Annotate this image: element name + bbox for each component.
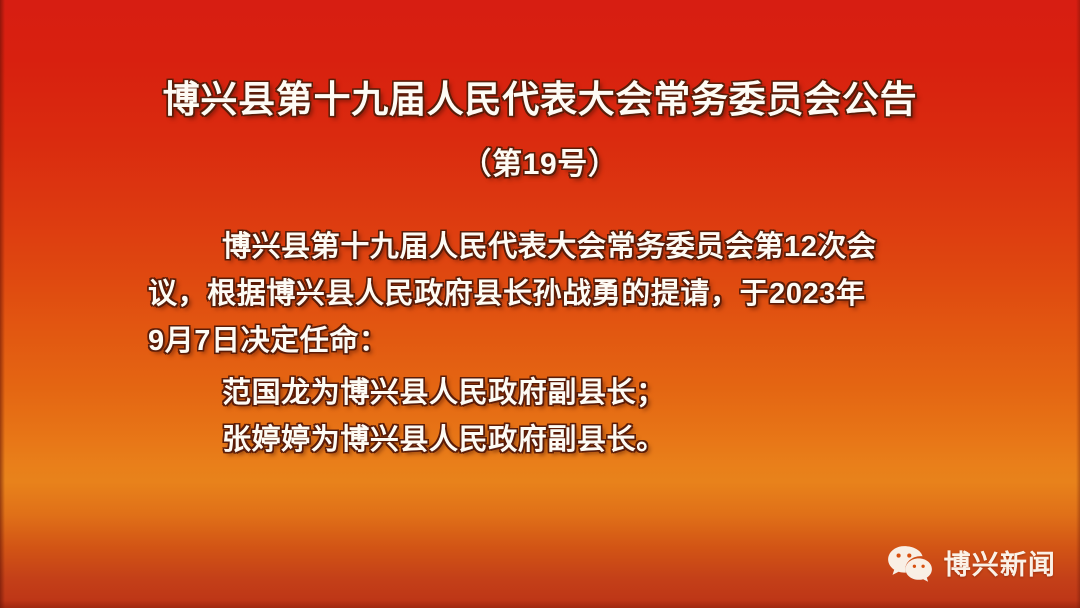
body-line-3: 9月7日决定任命： — [148, 318, 948, 365]
announcement-slide: 博兴县第十九届人民代表大会常务委员会公告 （第19号） 博兴县第十九届人民代表大… — [0, 0, 1080, 608]
appointment-item-2: 张婷婷为博兴县人民政府副县长。 — [222, 417, 982, 464]
wechat-icon — [887, 544, 933, 586]
watermark-label: 博兴新闻 — [944, 550, 1056, 580]
appointment-list: 范国龙为博兴县人民政府副县长； 张婷婷为博兴县人民政府副县长。 — [222, 370, 982, 464]
appointment-item-1: 范国龙为博兴县人民政府副县长； — [222, 370, 982, 417]
document-number: （第19号） — [0, 146, 1080, 184]
body-line-2: 议，根据博兴县人民政府县长孙战勇的提请，于2023年 — [148, 271, 948, 318]
page-title: 博兴县第十九届人民代表大会常务委员会公告 — [0, 78, 1080, 122]
body-line-1: 博兴县第十九届人民代表大会常务委员会第12次会 — [148, 224, 948, 271]
body-paragraph: 博兴县第十九届人民代表大会常务委员会第12次会 议，根据博兴县人民政府县长孙战勇… — [148, 224, 948, 365]
bottom-edge-shadow — [0, 600, 1080, 608]
watermark: 博兴新闻 — [887, 544, 1056, 586]
